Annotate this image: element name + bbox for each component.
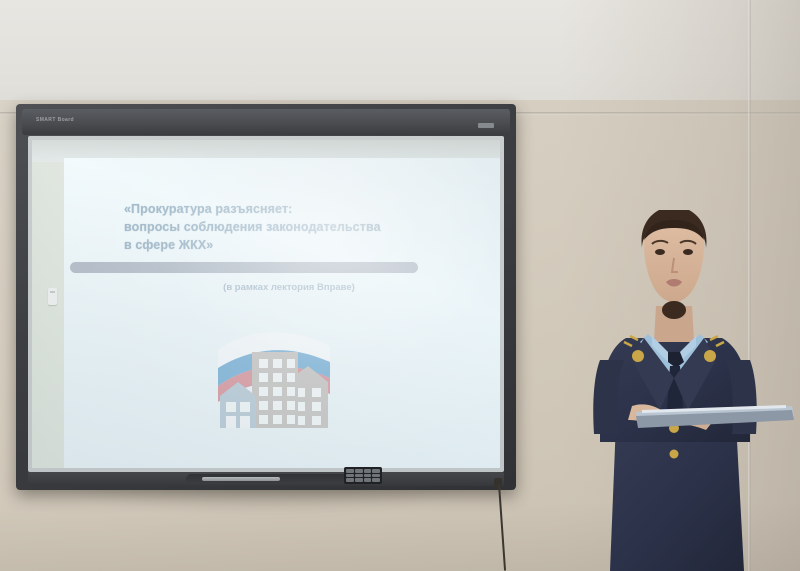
keypad-button[interactable] (372, 474, 380, 478)
uniform-skirt (610, 422, 744, 571)
wall-switch-icon (48, 288, 57, 305)
pen-tray[interactable] (28, 472, 504, 486)
bezel-label-icon (478, 123, 494, 128)
slide-title-line-2: вопросы соблюдения законодательства (124, 218, 464, 236)
keypad-button[interactable] (364, 469, 372, 473)
keypad-button[interactable] (372, 469, 380, 473)
presentation-slide: «Прокуратура разъясняет: вопросы соблюде… (64, 158, 500, 468)
keypad-button[interactable] (355, 478, 363, 482)
slide-title: «Прокуратура разъясняет: вопросы соблюде… (124, 200, 464, 254)
board-top-bezel: SMART Board (22, 109, 510, 135)
prosecutor-speaker (586, 210, 800, 571)
keypad-button[interactable] (372, 478, 380, 482)
left-eye (655, 249, 665, 255)
smart-board-brand-logo: SMART Board (36, 117, 74, 123)
slide-title-line-3: в сфере ЖКХ» (124, 236, 464, 254)
jacket-button-lower-icon (670, 450, 679, 459)
collar-insignia-left-icon (632, 350, 644, 362)
keypad-button[interactable] (364, 474, 372, 478)
keypad-button[interactable] (346, 469, 354, 473)
presentation-room-photo: SMART Board «Прокуратура разъясняет: воп… (0, 0, 800, 571)
pen-tray-well (186, 474, 366, 484)
slide-subtitle: (в рамках лектория Вправе) (124, 282, 454, 293)
projection-screen[interactable]: «Прокуратура разъясняет: вопросы соблюде… (32, 140, 500, 468)
keypad-button[interactable] (346, 474, 354, 478)
right-eye (683, 249, 693, 255)
flag-and-buildings-illustration (216, 324, 332, 432)
apartment-tower-icon (252, 352, 298, 428)
slide-title-line-1: «Прокуратура разъясняет: (124, 200, 464, 218)
slide-divider-bar (70, 262, 418, 273)
control-keypad[interactable] (344, 467, 382, 484)
keypad-button[interactable] (364, 478, 372, 482)
hair-bun (662, 301, 686, 319)
keypad-button[interactable] (355, 474, 363, 478)
screen-surround: «Прокуратура разъясняет: вопросы соблюде… (28, 136, 504, 472)
keypad-button[interactable] (355, 469, 363, 473)
stylus-pen[interactable] (202, 477, 280, 481)
collar-insignia-right-icon (704, 350, 716, 362)
keypad-button[interactable] (346, 478, 354, 482)
smart-board[interactable]: SMART Board «Прокуратура разъясняет: воп… (16, 104, 516, 490)
